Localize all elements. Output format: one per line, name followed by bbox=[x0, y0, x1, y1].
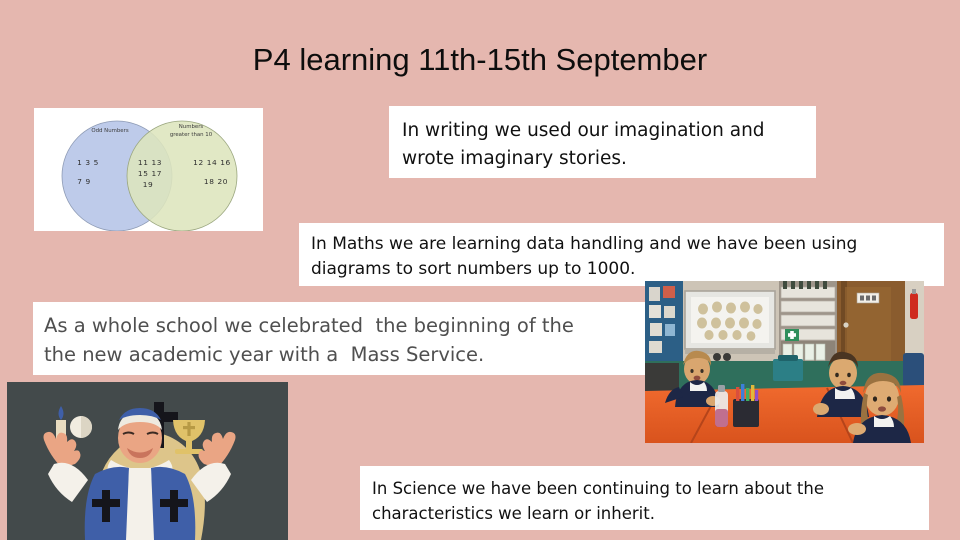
school-mass-text-card: As a whole school we celebrated the begi… bbox=[33, 302, 650, 375]
page-title: P4 learning 11th-15th September bbox=[0, 42, 960, 78]
science-text-card: In Science we have been continuing to le… bbox=[360, 466, 929, 530]
writing-line-1: In writing we used our imagination and bbox=[402, 117, 816, 145]
venn-intersection-row2: 15 17 bbox=[138, 169, 162, 178]
venn-intersection-row1: 11 13 bbox=[138, 158, 162, 167]
chalice-base bbox=[175, 449, 203, 454]
writing-text-card: In writing we used our imagination and w… bbox=[389, 106, 816, 178]
classroom-photo-svg bbox=[645, 281, 924, 443]
science-line-1: In Science we have been continuing to le… bbox=[372, 476, 929, 501]
vestment-cross-right-horizontal bbox=[160, 499, 188, 507]
venn-intersection-row3: 19 bbox=[143, 180, 154, 189]
venn-label-left: Odd Numbers bbox=[91, 128, 128, 134]
science-line-2: characteristics we learn or inherit. bbox=[372, 501, 929, 526]
venn-left-values-row1: 1 3 5 bbox=[77, 158, 99, 167]
writing-line-2: wrote imaginary stories. bbox=[402, 145, 816, 173]
venn-diagram-image[interactable]: Odd Numbers Numbers greater than 10 1 3 … bbox=[34, 108, 263, 231]
maths-text-card: In Maths we are learning data handling a… bbox=[299, 223, 944, 286]
chalice-cross-horizontal bbox=[183, 426, 195, 429]
priest-illustration[interactable] bbox=[7, 382, 288, 540]
classroom-photo[interactable] bbox=[645, 281, 924, 443]
venn-left-values-row2: 7 9 bbox=[77, 177, 91, 186]
maths-line-1: In Maths we are learning data handling a… bbox=[311, 232, 944, 257]
school-line-1: As a whole school we celebrated the begi… bbox=[44, 311, 650, 340]
chalice-stem bbox=[186, 441, 192, 450]
school-line-2: the new academic year with a Mass Servic… bbox=[44, 340, 650, 369]
vestment-cross-left-horizontal bbox=[92, 499, 120, 507]
presentation-slide: P4 learning 11th-15th September Odd Numb… bbox=[0, 0, 960, 540]
vestment-stole bbox=[126, 468, 154, 540]
venn-label-right-line2: greater than 10 bbox=[170, 132, 213, 138]
maths-line-2: diagrams to sort numbers up to 1000. bbox=[311, 257, 944, 282]
venn-diagram-svg: Odd Numbers Numbers greater than 10 1 3 … bbox=[34, 108, 263, 231]
venn-right-values-row2: 18 20 bbox=[204, 177, 228, 186]
venn-right-values-row1: 12 14 16 bbox=[193, 158, 231, 167]
priest-illustration-svg bbox=[7, 382, 288, 540]
venn-label-right-line1: Numbers bbox=[179, 124, 204, 130]
